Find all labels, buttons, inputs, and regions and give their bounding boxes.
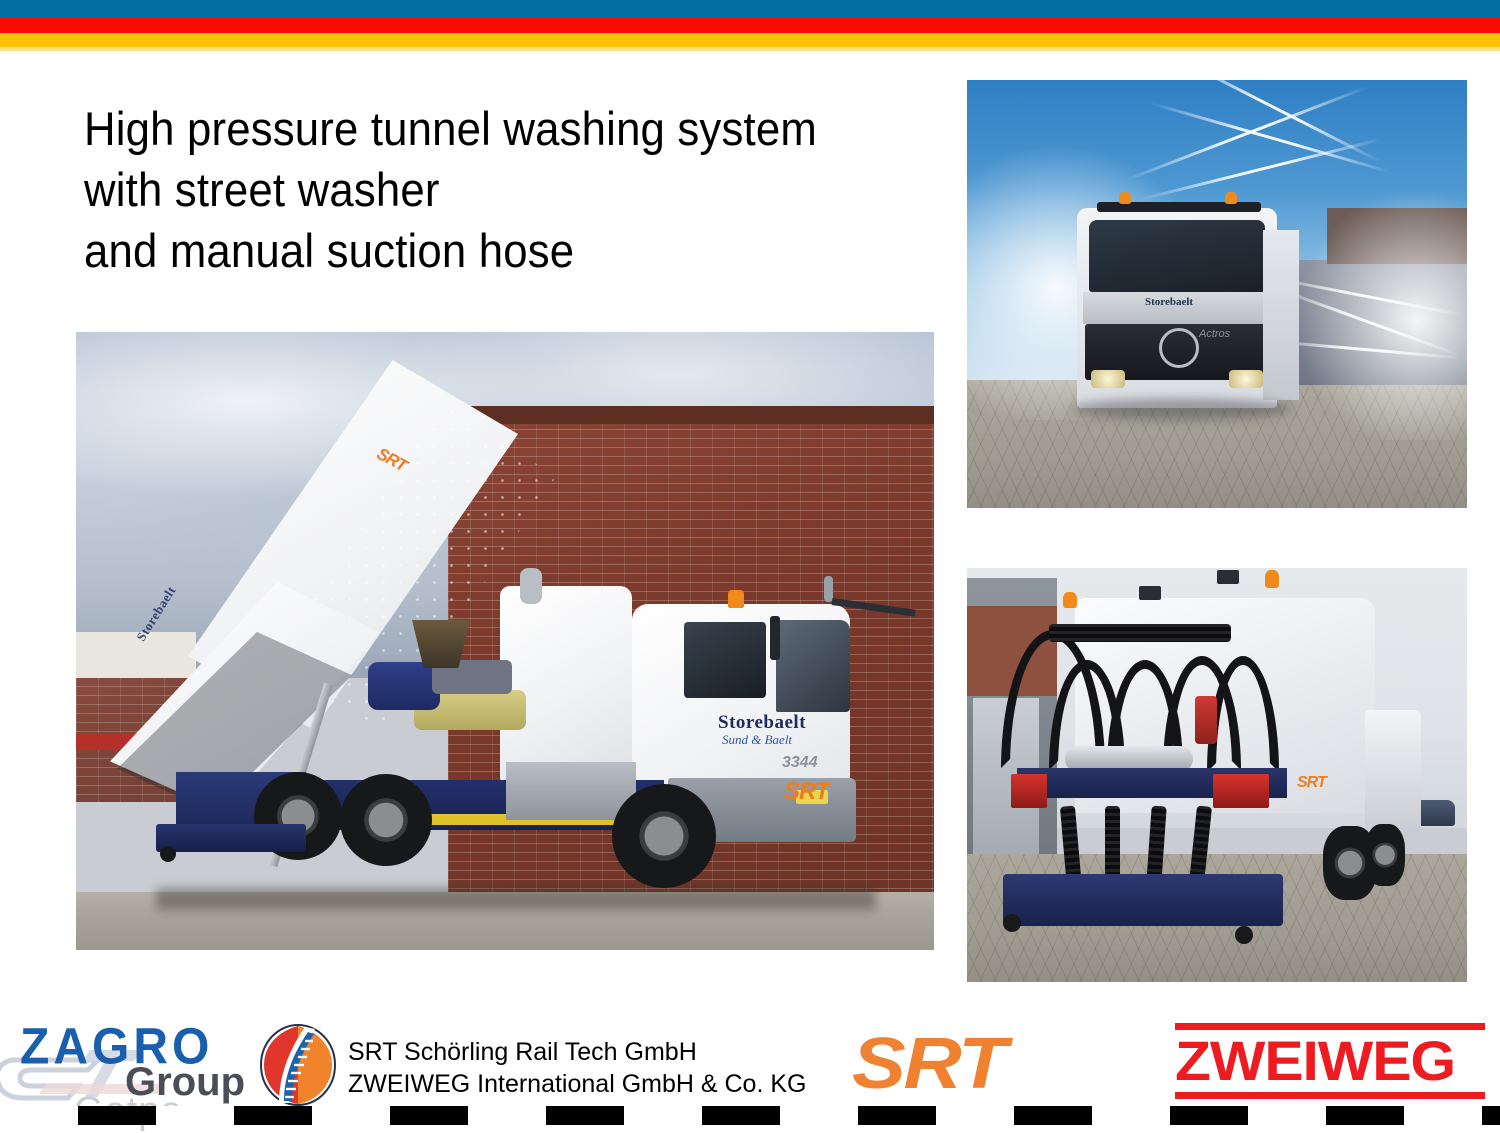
checker-square — [1404, 1106, 1482, 1125]
wing-mirror — [770, 616, 780, 660]
zweiweg-rule-bottom — [1175, 1092, 1485, 1099]
suction-unit-pipe — [520, 568, 542, 604]
photo-main-truck-tipping: SRT Storebaelt Storebaelt Sund & Baelt 3… — [76, 332, 934, 950]
sweeping-gear — [156, 824, 306, 852]
company-names: SRT Schörling Rail Tech GmbH ZWEIWEG Int… — [348, 1036, 806, 1100]
frame-caster-right — [1235, 926, 1253, 944]
beacon-light — [728, 590, 744, 608]
work-lamp-2 — [1217, 570, 1239, 584]
srt-wordmark: SRT — [852, 1023, 1005, 1105]
frame-caster-left — [1003, 914, 1021, 932]
checker-square — [780, 1106, 858, 1125]
truck-cab-far — [1365, 710, 1421, 830]
accent-stripe-red — [0, 17, 1500, 33]
wheel-rear-2 — [340, 774, 432, 866]
checker-square — [0, 1106, 78, 1125]
checker-square — [468, 1106, 546, 1125]
gear-wheel — [160, 846, 176, 862]
mercedes-star-icon — [1159, 328, 1199, 368]
photo-truck-spraying-front: Storebaelt Actros — [967, 80, 1467, 508]
slide-title: High pressure tunnel washing system with… — [84, 98, 902, 281]
wheel-front — [612, 784, 716, 888]
suction-hose-lower-2 — [1105, 806, 1120, 882]
truck-shadow — [1071, 398, 1291, 420]
headlight-left — [1091, 370, 1125, 388]
bottom-checker-strip — [0, 1106, 1500, 1125]
ground-shadow — [156, 888, 876, 910]
cab-model-number: 3344 — [782, 754, 818, 772]
srt-oval-emblem-icon — [259, 1023, 337, 1107]
wheel-rear-2 — [1365, 824, 1405, 886]
accent-stripe-blue — [0, 0, 1500, 17]
work-lamp-1 — [1139, 586, 1161, 600]
cab-storebaelt-logo: Storebaelt — [718, 712, 806, 734]
cab-storebaelt-text: Storebaelt — [1145, 296, 1193, 308]
top-accent-bar — [0, 0, 1500, 50]
windscreen — [1089, 220, 1265, 292]
blower-unit — [368, 662, 440, 710]
tail-light-left — [1011, 774, 1047, 808]
beacon-right — [1225, 192, 1237, 204]
checker-square — [1248, 1106, 1326, 1125]
mist-right — [1297, 140, 1467, 440]
photo-truck-rear-suction-hoses: SRT — [967, 568, 1467, 982]
beacon-right — [1265, 570, 1279, 588]
zweiweg-wordmark: ZWEIWEG — [1175, 1031, 1500, 1091]
zagro-group-label: Group — [125, 1060, 245, 1105]
accent-stripe-yellow-shadow — [0, 47, 1500, 51]
zweiweg-logo: ZWEIWEG — [1175, 1023, 1485, 1099]
cab-srt-logo: SRT — [784, 778, 829, 806]
chassis-side-boxes — [506, 762, 636, 820]
beacon-left — [1063, 592, 1077, 608]
brick-building-roofline — [448, 406, 934, 424]
accent-stripe-yellow — [0, 33, 1500, 47]
blue-sweeping-frame — [1003, 874, 1283, 926]
cab-side-window — [684, 622, 766, 698]
checker-square — [312, 1106, 390, 1125]
tail-light-right — [1213, 774, 1269, 808]
checker-square — [624, 1106, 702, 1125]
actros-badge: Actros — [1199, 328, 1230, 340]
cab-sub-brand: Sund & Baelt — [722, 732, 792, 748]
suction-unit-body — [500, 586, 632, 782]
truck-body-behind — [1263, 230, 1299, 400]
checker-square — [156, 1106, 234, 1125]
beacon-left — [1119, 192, 1131, 204]
checker-square — [1092, 1106, 1170, 1125]
zagro-logo: ZAGRO Group — [20, 1018, 245, 1102]
headlight-right — [1229, 370, 1263, 388]
white-board-left — [76, 632, 196, 678]
red-equipment — [1195, 696, 1217, 744]
hose-manifold-arm — [1049, 624, 1231, 642]
windscreen — [776, 620, 850, 712]
body-srt-logo: SRT — [1297, 774, 1326, 792]
checker-square — [936, 1106, 1014, 1125]
